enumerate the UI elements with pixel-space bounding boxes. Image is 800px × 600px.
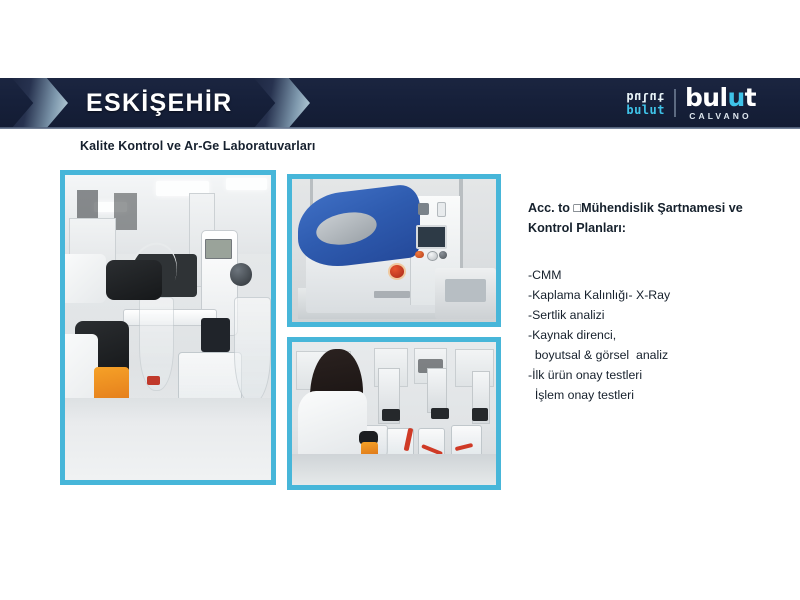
slide-canvas: ESKİŞEHİR bulut bulut bulut CALVANO Kali… bbox=[0, 0, 800, 600]
xray-coating-machine-photo bbox=[287, 174, 501, 327]
logo-wordmark: bulut CALVANO bbox=[685, 85, 756, 121]
list-item: -Kaynak direnci, bbox=[528, 325, 790, 345]
section-subtitle: Kalite Kontrol ve Ar-Ge Laboratuvarları bbox=[80, 139, 315, 153]
list-item: -CMM bbox=[528, 265, 790, 285]
logo-divider bbox=[674, 89, 676, 117]
list-item: boyutsal & görsel analiz bbox=[528, 345, 790, 365]
bulut-calvano-logo: bulut bulut bulut CALVANO bbox=[626, 78, 756, 128]
lab-technician-photo bbox=[287, 337, 501, 490]
list-item: -Sertlik analizi bbox=[528, 305, 790, 325]
list-item: -Kaplama Kalınlığı- X-Ray bbox=[528, 285, 790, 305]
titration-lab-photo bbox=[60, 170, 276, 485]
chevron-arrow-icon bbox=[12, 78, 68, 128]
chevron-arrow-icon bbox=[254, 78, 310, 128]
logo-mark-icon: bulut bulut bbox=[626, 91, 665, 116]
text-panel-heading: Acc. to □Mühendislik Şartnamesi ve Kontr… bbox=[528, 198, 790, 239]
page-title: ESKİŞEHİR bbox=[86, 78, 232, 128]
requirements-list: -CMM -Kaplama Kalınlığı- X-Ray -Sertlik … bbox=[528, 265, 790, 405]
logo-wordmark-sub: CALVANO bbox=[685, 112, 756, 121]
text-panel: Acc. to □Mühendislik Şartnamesi ve Kontr… bbox=[528, 198, 790, 405]
logo-mark-mirror-text: bulut bbox=[626, 91, 665, 103]
logo-mark-base-text: bulut bbox=[626, 104, 665, 116]
list-item: -İlk ürün onay testleri bbox=[528, 365, 790, 385]
list-item: İşlem onay testleri bbox=[528, 385, 790, 405]
logo-wordmark-main: bulut bbox=[685, 85, 756, 110]
